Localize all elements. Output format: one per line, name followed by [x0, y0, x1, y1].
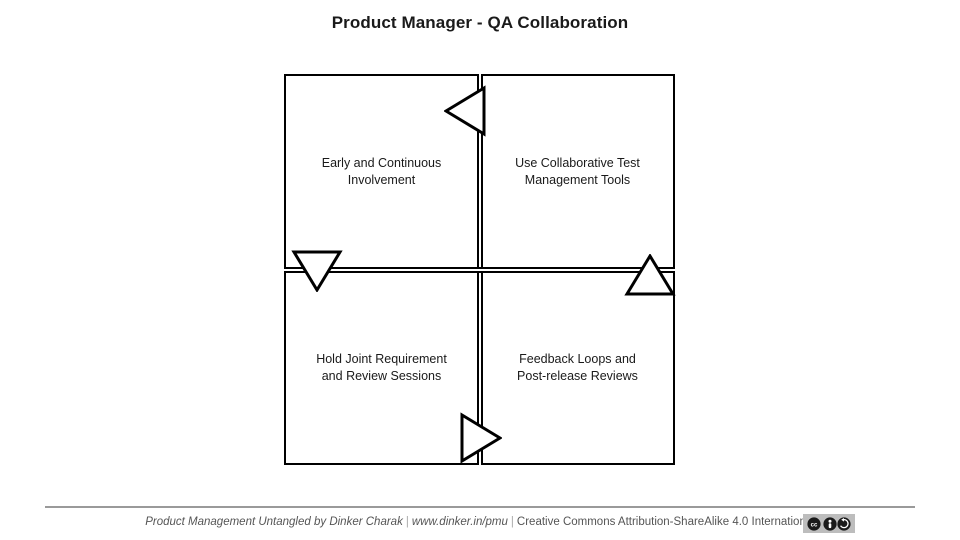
quadrant-matrix: Early and Continuous Involvement Use Col… [284, 74, 675, 465]
quadrant-label-hold-joint-requirement-and-review-sessions: Hold Joint Requirement and Review Sessio… [308, 351, 455, 385]
cc-by-sa-badge[interactable]: cc [803, 514, 855, 533]
footer-divider [45, 506, 915, 508]
quadrant-bottom-left: Hold Joint Requirement and Review Sessio… [284, 270, 479, 465]
quadrant-bottom-right: Feedback Loops and Post-release Reviews [480, 270, 675, 465]
quadrant-top-right: Use Collaborative Test Management Tools [480, 74, 675, 269]
footer-separator-1: | [403, 516, 412, 528]
footer-website-link[interactable]: www.dinker.in/pmu [412, 516, 508, 528]
arrow-left-icon [444, 85, 486, 137]
footer-license-text: Creative Commons Attribution-ShareAlike … [517, 516, 815, 528]
footer-separator-2: | [508, 516, 517, 528]
quadrant-label-feedback-loops-and-post-release-reviews: Feedback Loops and Post-release Reviews [509, 351, 646, 385]
quadrant-label-use-collaborative-test-management-tools: Use Collaborative Test Management Tools [507, 155, 648, 189]
svg-text:cc: cc [811, 522, 818, 528]
slide-canvas: Product Manager - QA Collaboration Early… [0, 0, 960, 540]
footer-book-title: Product Management Untangled by Dinker C… [145, 516, 403, 528]
arrow-right-icon [460, 412, 502, 464]
arrow-down-icon [291, 250, 343, 292]
quadrant-label-early-and-continuous-involvement: Early and Continuous Involvement [314, 155, 450, 189]
arrow-up-icon [624, 254, 676, 296]
page-title: Product Manager - QA Collaboration [0, 13, 960, 33]
